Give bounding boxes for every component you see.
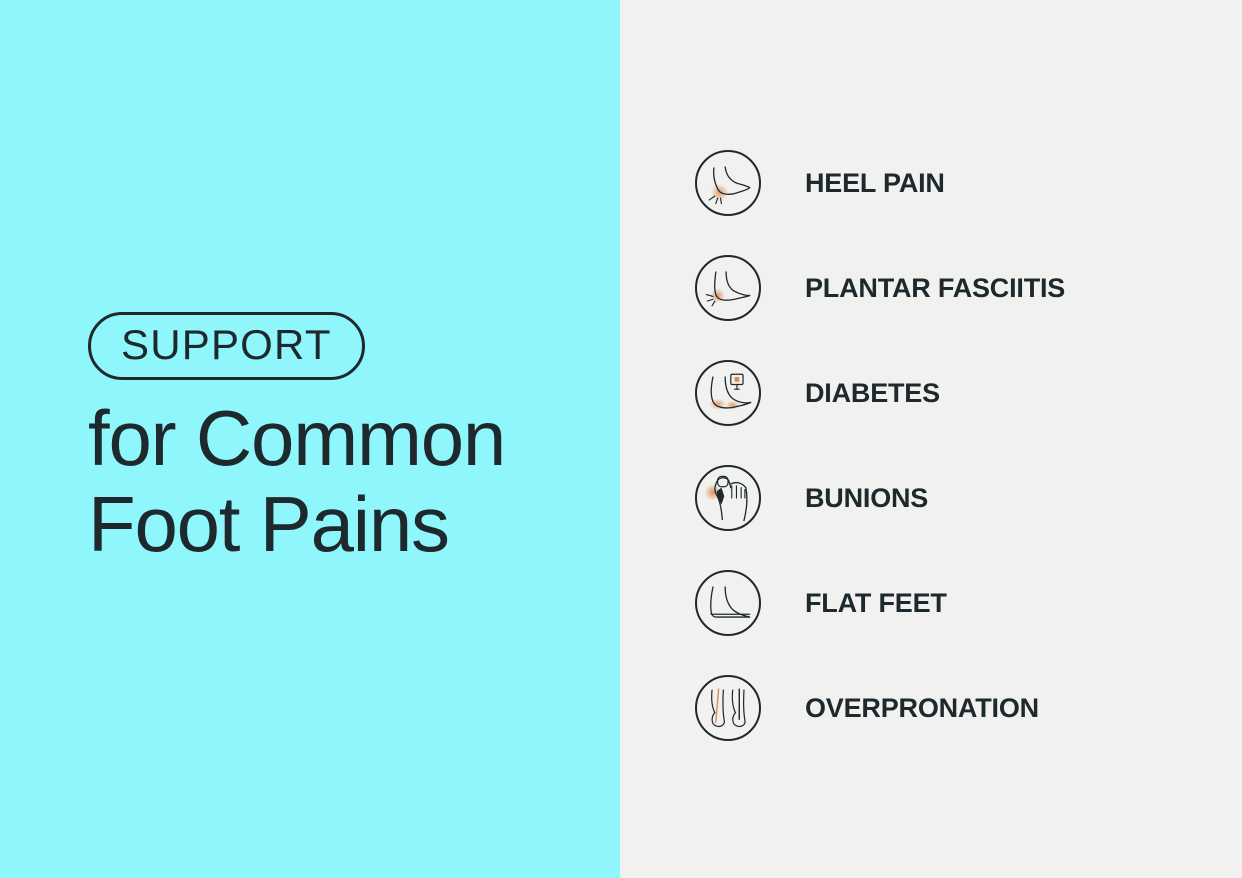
condition-label: BUNIONS (805, 485, 928, 512)
list-item: HEEL PAIN (695, 150, 1065, 216)
left-headline-panel: SUPPORT for Common Foot Pains (0, 0, 620, 878)
condition-label: OVERPRONATION (805, 695, 1039, 722)
flat-foot-arch-icon (695, 570, 761, 636)
plantar-fasciitis-foot-icon (695, 255, 761, 321)
page-title: for Common Foot Pains (88, 396, 588, 568)
diabetes-foot-glucose-meter-icon (695, 360, 761, 426)
condition-label: PLANTAR FASCIITIS (805, 275, 1065, 302)
list-item: PLANTAR FASCIITIS (695, 255, 1065, 321)
condition-label: HEEL PAIN (805, 170, 945, 197)
condition-label: DIABETES (805, 380, 940, 407)
heel-pain-foot-icon (695, 150, 761, 216)
headline-line-2: Foot Pains (88, 482, 588, 568)
condition-list: HEEL PAIN (695, 150, 1065, 741)
list-item: DIABETES (695, 360, 1065, 426)
list-item: OVERPRONATION (695, 675, 1065, 741)
condition-label: FLAT FEET (805, 590, 947, 617)
support-badge-label: SUPPORT (121, 324, 332, 366)
support-badge: SUPPORT (88, 312, 365, 380)
foot-pain-support-poster: SUPPORT for Common Foot Pains (0, 0, 1242, 878)
bunion-toe-joint-icon (695, 465, 761, 531)
headline-block: SUPPORT for Common Foot Pains (88, 312, 588, 568)
overpronation-ankles-icon (695, 675, 761, 741)
list-item: FLAT FEET (695, 570, 1065, 636)
headline-line-1: for Common (88, 396, 588, 482)
right-conditions-panel: HEEL PAIN (620, 0, 1242, 878)
list-item: BUNIONS (695, 465, 1065, 531)
